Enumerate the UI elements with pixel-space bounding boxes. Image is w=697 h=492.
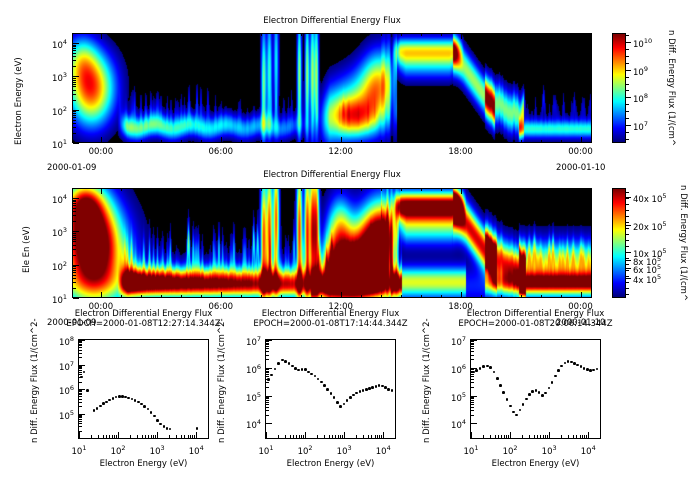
panel2-xtick-minor-tick-top <box>501 188 502 191</box>
panel1-ytick-minor-tick <box>73 56 76 57</box>
panel2-xtick-major-tick <box>341 292 342 298</box>
panel1-cbar-tick <box>626 42 631 43</box>
spectrum-3-xminor-tick <box>540 435 541 438</box>
data-point <box>567 360 570 363</box>
panel2-cbar-minor-tick <box>626 240 629 241</box>
spectrum-2-xminor-tick <box>324 435 325 438</box>
panel2-cbar-minor-tick <box>626 246 629 247</box>
data-point <box>281 359 284 362</box>
spectrum-2-xtick-label: 104 <box>374 444 392 457</box>
panel1-colorbar-label: n Diff. Energy Flux (1/(cm^ <box>666 30 676 146</box>
spectrum-3-yminor-tick <box>471 359 474 360</box>
panel1-xtick-minor-tick <box>401 140 402 143</box>
spectrum-2-yminor-tick <box>266 382 269 383</box>
panel2-xtick-minor-tick <box>381 295 382 298</box>
panel2-xtick-minor-tick <box>401 295 402 298</box>
panel2-ytick-minor-tick <box>73 233 76 234</box>
spectrum-3-xminor-tick <box>498 435 499 438</box>
panel1-ytick-minor-tick <box>73 46 76 47</box>
spectrum-2-xminor-tick <box>375 435 376 438</box>
data-point <box>143 405 146 408</box>
panel1-cbar-tick <box>626 97 631 98</box>
spectrum-3-xminor-tick <box>501 435 502 438</box>
spectrum-2-yminor-tick <box>266 407 269 408</box>
spectrum-3-xminor-tick <box>568 435 569 438</box>
data-point <box>320 381 323 384</box>
data-point <box>384 386 387 389</box>
data-point <box>502 391 505 394</box>
data-point <box>586 368 589 371</box>
data-point <box>339 405 342 408</box>
panel1-xtick-minor-tick <box>141 140 142 143</box>
spectrum-1-xminor-tick <box>192 435 193 438</box>
panel2-colorbar <box>612 188 626 298</box>
data-point <box>506 398 509 401</box>
spectrum-1-xminor-tick <box>181 435 182 438</box>
panel1-xtick-minor-tick <box>261 140 262 143</box>
spectrum-3-yminor-tick <box>471 369 474 370</box>
panel2-ytick-minor-tick <box>73 278 76 279</box>
panel1-ytick-minor-tick <box>73 84 76 85</box>
panel1-ytick-label: 103 <box>0 71 67 84</box>
panel2-xtick-label: 18:00 <box>446 302 476 312</box>
panel2-ytick-label: 103 <box>0 226 67 239</box>
spectrum-2-xtick-label: 103 <box>335 444 353 457</box>
panel1-xtick-minor-tick-top <box>141 33 142 36</box>
panel2-cbar-minor-tick <box>626 282 629 283</box>
spectrum-1-xminor-tick <box>153 435 154 438</box>
panel2-xtick-minor-tick-top <box>321 188 322 191</box>
panel1-ytick-minor-tick <box>73 86 76 87</box>
panel1-xtick-minor-tick-top <box>241 33 242 36</box>
panel2-ytick-label: 101 <box>0 293 67 306</box>
panel1-xtick-minor-tick <box>521 140 522 143</box>
panel2-xtick-minor-tick <box>201 295 202 298</box>
spectrum-1-xtick-label: 101 <box>70 444 88 457</box>
spectrum-1-yminor-tick <box>79 357 82 358</box>
data-point <box>589 369 592 372</box>
panel2-xtick-minor-tick <box>301 295 302 298</box>
panel2-cbar-minor-tick <box>626 270 629 271</box>
data-point <box>525 398 528 401</box>
data-point <box>486 365 489 368</box>
panel2-ytick-minor-tick <box>73 241 76 242</box>
panel2-xtick-minor-tick-top <box>141 188 142 191</box>
spectrum-1-xtick-label: 102 <box>109 444 127 457</box>
spectrum-3-xminor-tick <box>584 435 585 438</box>
panel2-colorbar-label: n Diff. Energy Flux (1/(cm^ <box>678 185 688 301</box>
panel1-xtick-major-tick-top <box>221 33 222 39</box>
panel1-cbar-tick <box>626 70 631 71</box>
panel2-xtick-minor-tick <box>421 295 422 298</box>
spectrum-1-yminor-tick <box>79 382 82 383</box>
data-point <box>512 411 515 414</box>
data-point <box>509 405 512 408</box>
data-point <box>573 362 576 365</box>
panel1-ytick-minor-tick <box>73 100 76 101</box>
panel1-ytick-major-tick <box>73 110 79 111</box>
spectrum-1-xminor-tick <box>151 435 152 438</box>
spectrum-2-xminor-tick <box>332 435 333 438</box>
panel2-ytick-minor-tick <box>73 201 76 202</box>
panel2-cbar-tick <box>626 225 631 226</box>
spectrum-2-yminor-tick <box>266 415 269 416</box>
spectrum-3-xminor-tick <box>600 435 601 438</box>
panel2-cbar-minor-tick <box>626 222 629 223</box>
panel1-xtick-major-tick-top <box>101 33 102 39</box>
spectrum-2-yminor-tick <box>266 376 269 377</box>
spectrum-1-xminor-tick <box>130 435 131 438</box>
spectrum-3-yminor-tick <box>471 374 474 375</box>
panel1-ytick-minor-tick <box>73 113 76 114</box>
spectrum-1-xminor-tick <box>188 435 189 438</box>
spectrum-1-xtick <box>79 432 80 438</box>
spectrum-1-yminor-tick <box>79 406 82 407</box>
data-point <box>544 392 547 395</box>
panel1-cbar-minor-tick <box>626 104 629 105</box>
panel2-ytick-minor-tick <box>73 203 76 204</box>
panel2-xtick-major-tick-top <box>581 188 582 194</box>
spectrum-3-ytick-label: 107 <box>0 335 466 348</box>
data-point <box>528 393 531 396</box>
spectrum-3-xminor-tick <box>576 435 577 438</box>
panel2-ytick-minor-tick <box>73 288 76 289</box>
panel2-xtick-minor-tick <box>141 295 142 298</box>
panel2-xtick-major-tick <box>101 292 102 298</box>
panel2-cbar-minor-tick <box>626 276 629 277</box>
spectrum-3-yminor-tick <box>471 407 474 408</box>
panel1-xtick-major-tick <box>581 137 582 143</box>
spectrum-3-xtick-label: 103 <box>540 444 558 457</box>
data-point <box>96 407 99 410</box>
spectrum-3-xlabel: Electron Energy (eV) <box>445 459 626 469</box>
spectrum-2-yminor-tick <box>266 387 269 388</box>
panel1-cbar-minor-tick <box>626 132 629 133</box>
spectrum-3-ytick <box>471 423 477 424</box>
panel2-xtick-minor-tick <box>361 295 362 298</box>
spectrum-3-xtick-label: 104 <box>579 444 597 457</box>
panel1-xtick-major-tick <box>221 137 222 143</box>
panel1-ytick-minor-tick <box>73 94 76 95</box>
spectrum-3-ytick-label: 104 <box>0 418 466 431</box>
data-point <box>371 386 374 389</box>
panel1-xtick-minor-tick <box>421 140 422 143</box>
panel2-xtick-minor-tick <box>481 295 482 298</box>
spectrum-1-xminor-tick <box>109 435 110 438</box>
panel1-ytick-minor-tick <box>73 123 76 124</box>
spectrum-3-xminor-tick <box>483 435 484 438</box>
data-point <box>531 390 534 393</box>
panel2-xtick-minor-tick-top <box>421 188 422 191</box>
spectrum-1-xtick <box>118 432 119 438</box>
panel2-cbar-tick <box>626 268 631 269</box>
panel2-xtick-minor-tick-top <box>181 188 182 191</box>
panel2-ytick-minor-tick <box>73 282 76 283</box>
data-point <box>323 384 326 387</box>
spectrum-1-xminor-tick <box>176 435 177 438</box>
panel1-ytick-minor-tick <box>73 117 76 118</box>
panel1-ytick-minor-tick <box>73 66 76 67</box>
spectrum-3-yminor-tick <box>471 355 474 356</box>
spectrum-3-xminor-tick <box>580 435 581 438</box>
panel1-xtick-minor-tick <box>241 140 242 143</box>
panel2-xtick-minor-tick-top <box>481 188 482 191</box>
spectrum-1-yminor-tick <box>79 416 82 417</box>
data-point <box>554 375 557 378</box>
spectrum-3-xminor-tick <box>543 435 544 438</box>
panel1-xtick-minor-tick-top <box>521 33 522 36</box>
spectrum-3-xtick <box>588 432 589 438</box>
data-point <box>482 365 485 368</box>
panel1-xtick-minor-tick-top <box>321 33 322 36</box>
panel2-cbar-minor-tick <box>626 294 629 295</box>
spectrum-2-xminor-tick <box>395 435 396 438</box>
spectrum-3-yminor-tick <box>471 400 474 401</box>
panel1-xtick-minor-tick <box>481 140 482 143</box>
spectrum-3-yminor-tick <box>471 372 474 373</box>
panel1-ytick-minor-tick <box>73 90 76 91</box>
panel1-cbar-label: 109 <box>633 65 648 78</box>
spectrum-2-xminor-tick <box>317 435 318 438</box>
spectrum-3-plot[interactable] <box>470 339 601 439</box>
spectrum-1-yminor-tick <box>79 353 82 354</box>
panel2-ytick-minor-tick <box>73 221 76 222</box>
panel2-xtick-minor-tick-top <box>161 188 162 191</box>
panel1-ytick-minor-tick <box>73 33 76 34</box>
spectrum-3-xminor-tick <box>522 435 523 438</box>
data-point <box>153 415 156 418</box>
data-point <box>535 389 538 392</box>
panel2-xtick-minor-tick <box>541 295 542 298</box>
panel1-xtick-minor-tick-top <box>501 33 502 36</box>
panel1-ytick-minor-tick <box>73 133 76 134</box>
panel2-xtick-minor-tick-top <box>261 188 262 191</box>
panel2-xtick-minor-tick <box>121 295 122 298</box>
panel2-xtick-minor-tick <box>561 295 562 298</box>
spectrum-1-xminor-tick <box>112 435 113 438</box>
spectrum-2-xminor-tick <box>278 435 279 438</box>
panel2-cbar-label: 40x 105 <box>633 192 667 205</box>
data-point <box>150 411 153 414</box>
spectrum-2-xtick-label: 101 <box>257 444 275 457</box>
data-point <box>570 361 573 364</box>
spectrum-1-xminor-tick <box>142 435 143 438</box>
spectrum-1-xtick <box>157 432 158 438</box>
panel2-xtick-minor-tick <box>181 295 182 298</box>
panel1-xtick-major-tick <box>341 137 342 143</box>
data-point <box>564 362 567 365</box>
spectrum-1-xminor-tick <box>169 435 170 438</box>
spectrum-2-xminor-tick <box>293 435 294 438</box>
panel2-spectrogram[interactable] <box>72 188 592 298</box>
spectrum-3-yminor-tick <box>471 398 474 399</box>
panel1-ytick-minor-tick <box>73 53 76 54</box>
data-point <box>378 384 381 387</box>
spectrum-3-yminor-tick <box>471 415 474 416</box>
panel1-xtick-minor-tick <box>121 140 122 143</box>
panel1-xtick-minor-tick <box>541 140 542 143</box>
panel2-xtick-minor-tick-top <box>121 188 122 191</box>
panel1-xtick-minor-tick <box>441 140 442 143</box>
data-point <box>580 365 583 368</box>
spectrum-1-xtick <box>196 432 197 438</box>
panel2-cbar-minor-tick <box>626 192 629 193</box>
spectrum-3-yminor-tick <box>471 371 474 372</box>
panel2-xtick-minor-tick <box>501 295 502 298</box>
panel1-cbar-minor-tick <box>626 56 629 57</box>
panel2-xtick-minor-tick-top <box>361 188 362 191</box>
panel1-ytick-minor-tick <box>73 48 76 49</box>
panel2-xtick-major-tick <box>581 292 582 298</box>
panel1-xtick-major-tick-top <box>461 33 462 39</box>
data-point <box>551 381 554 384</box>
panel2-ytick-minor-tick <box>73 205 76 206</box>
panel2-cbar-minor-tick <box>626 234 629 235</box>
panel1-ytick-minor-tick <box>73 111 76 112</box>
spectrum-3-yminor-tick <box>471 348 474 349</box>
panel1-cbar-minor-tick <box>626 35 629 36</box>
panel2-xtick-minor-tick-top <box>381 188 382 191</box>
panel1-ytick-minor-tick <box>73 115 76 116</box>
panel2-cbar-label: 4x 105 <box>633 273 661 286</box>
panel1-xtick-minor-tick <box>161 140 162 143</box>
panel2-xtick-label: 06:00 <box>206 302 236 312</box>
panel2-ytick-major-tick <box>73 198 79 199</box>
spectrum-2-xtick <box>305 432 306 438</box>
panel1-cbar-minor-tick <box>626 49 629 50</box>
panel1-xtick-label: 00:00 <box>86 147 116 157</box>
panel1-xtick-minor-tick-top <box>561 33 562 36</box>
panel2-ytick-minor-tick <box>73 188 76 189</box>
panel1-ytick-minor-tick <box>73 78 76 79</box>
spectrum-2-xminor-tick <box>296 435 297 438</box>
panel1-xtick-minor-tick-top <box>181 33 182 36</box>
spectrum-2-yminor-tick <box>266 379 269 380</box>
panel2-cbar-minor-tick <box>626 264 629 265</box>
panel2-cbar-tick <box>626 278 631 279</box>
spectrum-1-xtick-label: 104 <box>187 444 205 457</box>
panel2-xtick-major-tick <box>461 292 462 298</box>
spectrum-1-xminor-tick <box>91 435 92 438</box>
panel2-xtick-label: 12:00 <box>326 302 356 312</box>
spectrum-2-xminor-tick <box>290 435 291 438</box>
panel2-cbar-minor-tick <box>626 210 629 211</box>
panel2-cbar-minor-tick <box>626 228 629 229</box>
panel2-ytick-major-tick <box>73 231 79 232</box>
data-point <box>596 368 599 371</box>
panel2-xtick-minor-tick-top <box>281 188 282 191</box>
panel1-ytick-minor-tick <box>73 60 76 61</box>
spectrum-2-yminor-tick <box>266 355 269 356</box>
panel2-title: Electron Differential Energy Flux <box>72 170 592 180</box>
panel1-ytick-minor-tick <box>73 45 76 46</box>
panel2-xtick-minor-tick <box>441 295 442 298</box>
panel1-ytick-major-tick <box>73 143 79 144</box>
panel2-cbar-minor-tick <box>626 252 629 253</box>
panel2-ytick-minor-tick <box>73 272 76 273</box>
panel1-cbar-label: 107 <box>633 120 648 133</box>
panel1-cbar-minor-tick <box>626 118 629 119</box>
panel2-xtick-minor-tick-top <box>401 188 402 191</box>
spectrum-2-xminor-tick <box>338 435 339 438</box>
spectrum-3-yminor-tick <box>471 382 474 383</box>
panel1-xtick-minor-tick <box>301 140 302 143</box>
spectrum-2-yminor-tick <box>266 410 269 411</box>
panel2-ytick-minor-tick <box>73 249 76 250</box>
panel1-xtick-minor-tick-top <box>201 33 202 36</box>
panel1-xtick-minor-tick-top <box>381 33 382 36</box>
spectrum-3-xminor-tick <box>534 435 535 438</box>
spectrum-2-xminor-tick <box>335 435 336 438</box>
panel2-xtick-minor-tick-top <box>301 188 302 191</box>
panel2-ytick-minor-tick <box>73 237 76 238</box>
spectrum-3-xtick-label: 102 <box>501 444 519 457</box>
panel1-xtick-minor-tick <box>361 140 362 143</box>
spectrum-2-xminor-tick <box>356 435 357 438</box>
spectrum-3-yminor-tick <box>471 402 474 403</box>
panel1-cbar-minor-tick <box>626 90 629 91</box>
panel2-ytick-minor-tick <box>73 208 76 209</box>
spectrum-3-ytick-label: 106 <box>0 363 466 376</box>
spectrum-3-yminor-tick <box>471 410 474 411</box>
panel2-ytick-label: 104 <box>0 193 67 206</box>
panel2-ytick-minor-tick <box>73 266 76 267</box>
panel2-ytick-minor-tick <box>73 245 76 246</box>
panel2-xtick-minor-tick <box>521 295 522 298</box>
panel2-xtick-minor-tick-top <box>441 188 442 191</box>
panel1-spectrogram[interactable] <box>72 33 592 143</box>
spectrum-2-xminor-tick <box>285 435 286 438</box>
data-point <box>519 409 522 412</box>
panel1-cbar-minor-tick <box>626 139 629 140</box>
panel2-cbar-tick <box>626 260 631 261</box>
spectrum-3-xminor-tick <box>490 435 491 438</box>
panel2-ytick-minor-tick <box>73 215 76 216</box>
spectrum-3-yminor-tick <box>471 387 474 388</box>
panel1-ytick-major-tick <box>73 76 79 77</box>
spectrum-1-yminor-tick <box>79 350 82 351</box>
panel2-ytick-minor-tick <box>73 275 76 276</box>
panel1-xtick-minor-tick-top <box>541 33 542 36</box>
spectrum-2-xlabel: Electron Energy (eV) <box>240 459 421 469</box>
panel2-ytick-minor-tick <box>73 200 76 201</box>
panel1-xtick-minor-tick-top <box>281 33 282 36</box>
panel1-cbar-minor-tick <box>626 63 629 64</box>
panel2-xtick-major-tick-top <box>341 188 342 194</box>
spectrum-1-xminor-tick <box>106 435 107 438</box>
spectrum-1-xlabel: Electron Energy (eV) <box>53 459 234 469</box>
panel2-ytick-minor-tick <box>73 239 76 240</box>
panel1-ytick-major-tick <box>73 43 79 44</box>
data-point <box>548 387 551 390</box>
spectrum-2-xminor-tick <box>363 435 364 438</box>
data-point <box>560 365 563 368</box>
panel1-xtick-label: 18:00 <box>446 147 476 157</box>
panel1-xtick-minor-tick-top <box>161 33 162 36</box>
data-point <box>381 385 384 388</box>
data-point <box>522 403 525 406</box>
data-point <box>576 364 579 367</box>
spectrum-2-yminor-tick <box>266 404 269 405</box>
panel1-ytick-minor-tick <box>73 127 76 128</box>
panel1-xtick-minor-tick <box>381 140 382 143</box>
panel2-ytick-label: 102 <box>0 260 67 273</box>
spectrum-3-xminor-tick <box>561 435 562 438</box>
spectrum-1-xminor-tick <box>190 435 191 438</box>
data-point <box>93 409 96 412</box>
panel1-xtick-minor-tick-top <box>121 33 122 36</box>
panel2-xtick-minor-tick-top <box>541 188 542 191</box>
